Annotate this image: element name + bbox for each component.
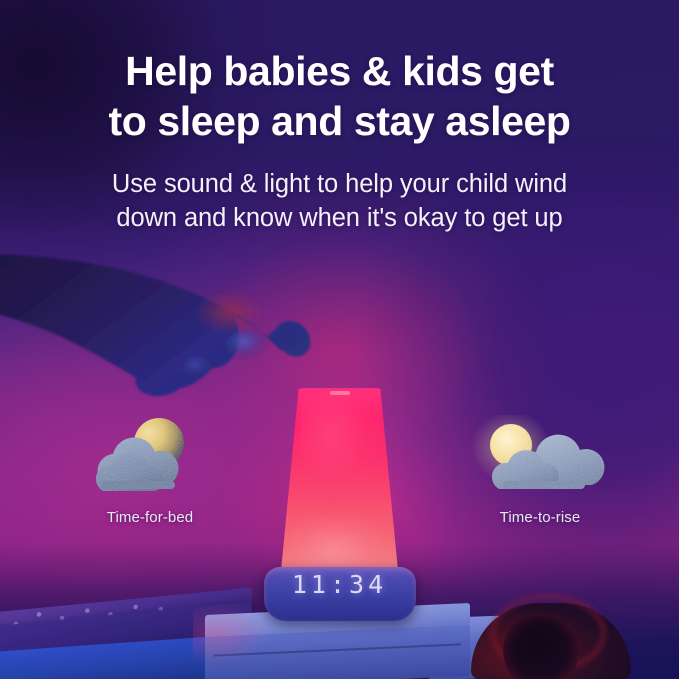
lamp-dome <box>280 388 400 586</box>
night-light-sound-machine[interactable]: 11:34 <box>250 388 430 623</box>
feature-time-for-bed: Time-for-bed <box>75 415 225 526</box>
feature-label-time-to-rise: Time-to-rise <box>465 509 615 526</box>
clock-display: 11:34 <box>292 570 387 599</box>
moon-behind-cloud-icon <box>75 415 225 501</box>
headline-line-1: Help babies & kids get <box>28 46 651 96</box>
feature-label-time-for-bed: Time-for-bed <box>75 509 225 526</box>
page-title: Help babies & kids get to sleep and stay… <box>0 46 679 146</box>
sun-behind-cloud-icon <box>465 415 615 501</box>
subhead-line-1: Use sound & light to help your child win… <box>30 168 649 202</box>
hero-text-block: Help babies & kids get to sleep and stay… <box>0 46 679 236</box>
plush-toy <box>463 601 643 679</box>
subhead-line-2: down and know when it's okay to get up <box>30 202 649 236</box>
headline-line-2: to sleep and stay asleep <box>28 96 651 146</box>
lamp-top-button[interactable] <box>330 391 350 395</box>
product-lifestyle-image: Help babies & kids get to sleep and stay… <box>0 0 679 679</box>
lamp-base: 11:34 <box>264 567 416 621</box>
page-subtitle: Use sound & light to help your child win… <box>0 168 679 236</box>
toy-opening <box>503 613 579 679</box>
feature-time-to-rise: Time-to-rise <box>465 415 615 526</box>
